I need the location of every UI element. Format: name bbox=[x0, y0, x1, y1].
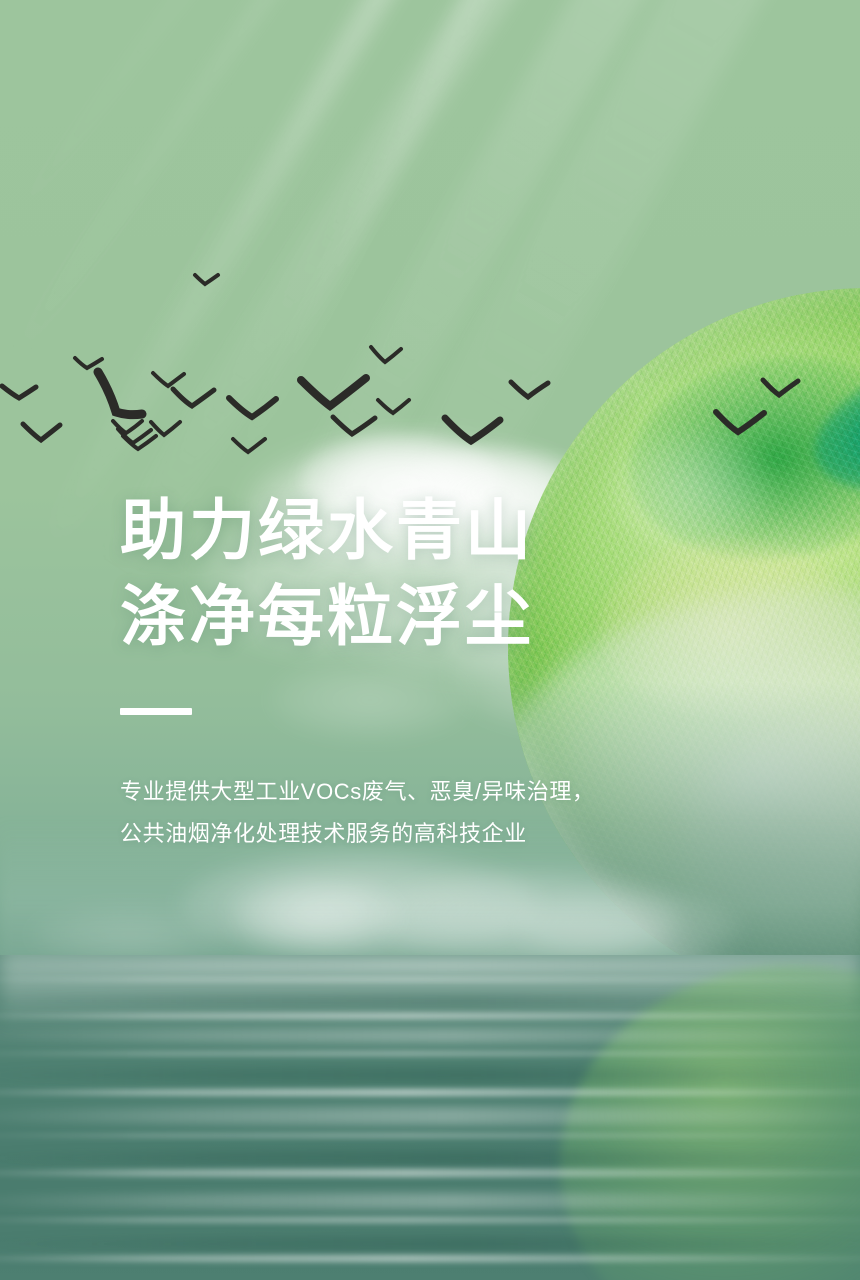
wave-line bbox=[0, 1255, 860, 1262]
wave-line bbox=[0, 1217, 860, 1223]
wave-line bbox=[0, 1237, 860, 1251]
wave-line bbox=[0, 1193, 860, 1209]
wave-line bbox=[0, 1169, 860, 1177]
wave-line bbox=[0, 1013, 860, 1019]
wave-line bbox=[0, 977, 860, 982]
eco-banner: 助力绿水青山 涤净每粒浮尘 专业提供大型工业VOCs废气、恶臭/异味治理， 公共… bbox=[0, 0, 860, 1280]
headline-line-2: 涤净每粒浮尘 bbox=[120, 574, 720, 660]
wave-line bbox=[0, 1151, 860, 1165]
wave-line bbox=[0, 1051, 860, 1056]
wave-line bbox=[0, 961, 860, 970]
water-surface bbox=[0, 955, 860, 1280]
wave-line bbox=[0, 1089, 860, 1096]
wave-line bbox=[0, 995, 860, 1007]
wave-line bbox=[0, 1107, 860, 1125]
subtitle-line-2: 公共油烟净化处理技术服务的高科技企业 bbox=[120, 813, 720, 856]
wave-line bbox=[0, 1067, 860, 1083]
title-divider bbox=[120, 708, 192, 715]
wave-line bbox=[0, 1029, 860, 1043]
headline-line-1: 助力绿水青山 bbox=[120, 488, 720, 574]
banner-text-block: 助力绿水青山 涤净每粒浮尘 专业提供大型工业VOCs废气、恶臭/异味治理， 公共… bbox=[120, 488, 720, 856]
page-title: 助力绿水青山 涤净每粒浮尘 bbox=[120, 488, 720, 660]
banner-subtitle: 专业提供大型工业VOCs废气、恶臭/异味治理， 公共油烟净化处理技术服务的高科技… bbox=[120, 771, 720, 857]
subtitle-line-1: 专业提供大型工业VOCs废气、恶臭/异味治理， bbox=[120, 771, 720, 814]
wave-line bbox=[0, 1133, 860, 1138]
